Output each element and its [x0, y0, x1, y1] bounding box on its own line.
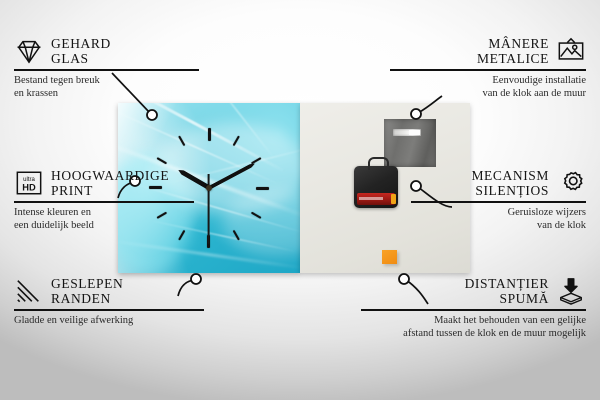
callout-header: DISTANȚIER SPUMĂ	[361, 276, 586, 306]
callout-title: GESLEPEN RANDEN	[51, 276, 123, 306]
product-infographic: GEHARD GLAS Bestand tegen breuk en krass…	[0, 0, 600, 400]
hanger-slot	[393, 129, 421, 136]
callout-subtitle: Geruisloze wijzers van de klok	[411, 206, 586, 232]
callout-subtitle: Maakt het behouden van een gelijke afsta…	[361, 314, 586, 340]
callout-hoogwaardige-print: ultra HD HOOGWAARDIGE PRINT Intense kleu…	[14, 168, 194, 232]
callout-header: GESLEPEN RANDEN	[14, 276, 204, 306]
metal-hanger-plate	[384, 119, 436, 167]
clock-second-hand	[208, 188, 210, 244]
callout-subtitle: Gladde en veilige afwerking	[14, 314, 204, 327]
callout-mecanism-silentios: MECANISM SILENȚIOS Geruisloze wijzers va…	[411, 168, 586, 232]
clock-movement	[354, 166, 398, 208]
diamond-icon	[14, 37, 44, 65]
callout-rule	[14, 201, 194, 203]
callout-geslepen-randen: GESLEPEN RANDEN Gladde en veilige afwerk…	[14, 276, 204, 327]
callout-rule	[14, 69, 199, 71]
callout-title: MÂNERE METALICE	[477, 36, 549, 66]
battery	[357, 193, 395, 205]
callout-rule	[411, 201, 586, 203]
picture-hanger-icon	[556, 37, 586, 65]
ultra-hd-icon: ultra HD	[14, 169, 44, 197]
callout-subtitle: Eenvoudige installatie van de klok aan d…	[390, 74, 586, 100]
clock-center-pivot	[206, 185, 212, 191]
callout-title: DISTANȚIER SPUMĂ	[465, 276, 549, 306]
callout-header: ultra HD HOOGWAARDIGE PRINT	[14, 168, 194, 198]
battery-cap	[391, 194, 396, 204]
bevelled-edges-icon	[14, 277, 44, 305]
spacer-arrow-icon	[556, 277, 586, 305]
svg-text:HD: HD	[22, 182, 36, 192]
callout-header: GEHARD GLAS	[14, 36, 199, 66]
foam-spacer	[382, 250, 397, 264]
metal-handle	[368, 157, 389, 170]
callout-distantier-spuma: DISTANȚIER SPUMĂ Maakt het behouden van …	[361, 276, 586, 340]
callout-header: MECANISM SILENȚIOS	[411, 168, 586, 198]
callout-rule	[14, 309, 204, 311]
callout-title: MECANISM SILENȚIOS	[471, 168, 549, 198]
battery-band	[359, 197, 383, 200]
callout-gehard-glas: GEHARD GLAS Bestand tegen breuk en krass…	[14, 36, 199, 100]
callout-header: MÂNERE METALICE	[390, 36, 586, 66]
callout-rule	[390, 69, 586, 71]
callout-subtitle: Intense kleuren en een duidelijk beeld	[14, 206, 194, 232]
callout-rule	[361, 309, 586, 311]
callout-title: GEHARD GLAS	[51, 36, 111, 66]
gear-icon	[556, 169, 586, 197]
callout-manere-metalice: MÂNERE METALICE Eenvoudige installatie v…	[390, 36, 586, 100]
clock-tick	[209, 187, 269, 189]
callout-title: HOOGWAARDIGE PRINT	[51, 168, 169, 198]
callout-subtitle: Bestand tegen breuk en krassen	[14, 74, 199, 100]
